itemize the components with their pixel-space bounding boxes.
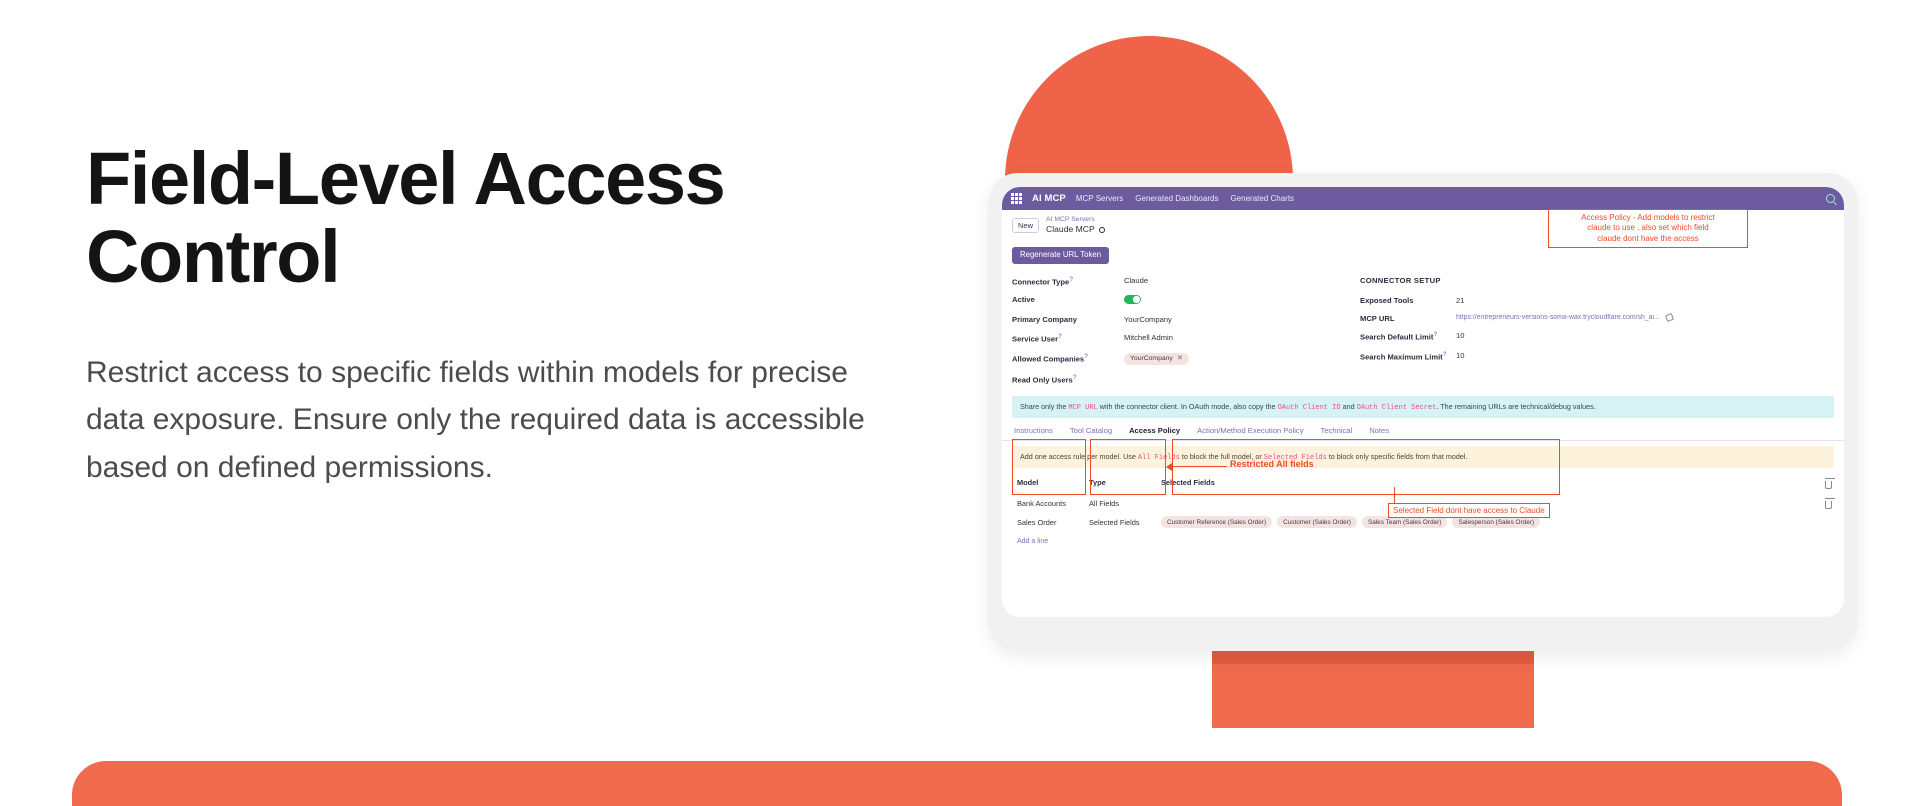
grid-apps-icon[interactable]: [1011, 193, 1022, 204]
slide-canvas: Field-Level Access Control Restrict acce…: [0, 0, 1920, 806]
table-column-model: Model Bank Accounts Sales Order: [1012, 475, 1084, 533]
regenerate-url-token-button[interactable]: Regenerate URL Token: [1012, 247, 1109, 264]
tab-action-method-execution-policy[interactable]: Action/Method Execution Policy: [1197, 426, 1303, 435]
info-banner-part2: with the connector client. In OAuth mode…: [1098, 402, 1278, 411]
field-value: 21: [1456, 296, 1464, 305]
tab-instructions[interactable]: Instructions: [1014, 426, 1053, 435]
page-body-text: Restrict access to specific fields withi…: [86, 349, 906, 491]
info-banner-part1: Share only the: [1020, 402, 1068, 411]
field-value[interactable]: 10: [1456, 351, 1464, 360]
table-row[interactable]: Bank Accounts: [1012, 494, 1084, 513]
field-label: Exposed Tools: [1360, 296, 1456, 305]
orange-bottom-bar: [72, 761, 1842, 806]
field-label: Connector Type?: [1012, 276, 1124, 287]
copy-icon[interactable]: [1665, 313, 1674, 322]
field-service-user: Service User? Mitchell Admin: [1012, 333, 1342, 344]
help-icon[interactable]: ?: [1433, 331, 1437, 338]
field-tag[interactable]: Customer (Sales Order): [1277, 516, 1357, 528]
column-header-model: Model: [1012, 475, 1084, 494]
field-label: Read Only Users?: [1012, 374, 1124, 385]
field-value[interactable]: YourCompany: [1124, 315, 1172, 324]
monitor-frame: AI MCP MCP Servers Generated Dashboards …: [988, 173, 1858, 651]
form-sheet: Connector Type? Claude Active Primary Co…: [1002, 264, 1844, 394]
field-label: Active: [1012, 295, 1124, 304]
active-toggle[interactable]: [1124, 295, 1141, 304]
tab-bar: Instructions Tool Catalog Access Policy …: [1002, 418, 1844, 441]
trash-icon[interactable]: [1825, 481, 1832, 489]
app-top-bar: AI MCP MCP Servers Generated Dashboards …: [1002, 187, 1844, 210]
app-brand[interactable]: AI MCP: [1032, 193, 1066, 204]
connector-setup-section: CONNECTOR SETUP Exposed Tools 21 MCP URL…: [1356, 276, 1834, 394]
tab-tool-catalog[interactable]: Tool Catalog: [1070, 426, 1112, 435]
new-button[interactable]: New: [1012, 218, 1039, 233]
field-value: YourCompany ✕: [1124, 353, 1189, 366]
field-value[interactable]: Claude: [1124, 276, 1148, 285]
field-read-only-users: Read Only Users?: [1012, 374, 1342, 385]
table-row[interactable]: All Fields: [1084, 494, 1156, 513]
field-exposed-tools: Exposed Tools 21: [1360, 296, 1834, 305]
close-icon[interactable]: ✕: [1177, 355, 1183, 364]
field-label: Allowed Companies?: [1012, 353, 1124, 364]
field-value[interactable]: https://entrepreneurs-versions-soma-wax.…: [1456, 314, 1660, 321]
field-tag[interactable]: Customer Reference (Sales Order): [1161, 516, 1272, 528]
connector-setup-title: CONNECTOR SETUP: [1360, 276, 1834, 285]
trash-icon[interactable]: [1825, 501, 1832, 509]
help-icon[interactable]: ?: [1073, 374, 1077, 381]
company-chip-label: YourCompany: [1130, 355, 1173, 363]
field-active: Active: [1012, 295, 1342, 306]
column-header-selected-fields: Selected Fields: [1156, 475, 1834, 494]
breadcrumb-trail: AI MCP Servers Claude MCP: [1046, 216, 1105, 235]
warning-banner: Add one access rule per model. Use All F…: [1012, 446, 1834, 468]
page-title: Field-Level Access Control: [86, 140, 776, 297]
field-search-default-limit: Search Default Limit? 10: [1360, 331, 1834, 342]
breadcrumb-current-label: Claude MCP: [1046, 224, 1095, 235]
field-label: Primary Company: [1012, 315, 1124, 324]
app-menu: MCP Servers Generated Dashboards Generat…: [1076, 194, 1294, 203]
annotation-arrow-all-fields: [1167, 466, 1227, 467]
gear-icon[interactable]: [1099, 227, 1105, 233]
field-connector-type: Connector Type? Claude: [1012, 276, 1342, 287]
tab-technical[interactable]: Technical: [1321, 426, 1353, 435]
field-tag[interactable]: Sales Team (Sales Order): [1362, 516, 1447, 528]
info-banner-code-client-secret: OAuth Client Secret: [1357, 404, 1437, 412]
search-icon[interactable]: [1826, 194, 1835, 203]
menu-item-generated-dashboards[interactable]: Generated Dashboards: [1135, 194, 1218, 203]
annotation-selected-field-note: Selected Field dont have access to Claud…: [1388, 503, 1550, 518]
add-a-line-link[interactable]: Add a line: [1012, 533, 1834, 545]
field-allowed-companies: Allowed Companies? YourCompany ✕: [1012, 353, 1342, 366]
help-icon[interactable]: ?: [1443, 351, 1447, 358]
field-label: Search Maximum Limit?: [1360, 351, 1456, 362]
tab-notes[interactable]: Notes: [1369, 426, 1389, 435]
mcp-url-row: https://entrepreneurs-versions-soma-wax.…: [1456, 314, 1834, 321]
copy-block: Field-Level Access Control Restrict acce…: [86, 140, 926, 491]
warn-banner-part3: to block only specific fields from that …: [1327, 452, 1468, 461]
help-icon[interactable]: ?: [1058, 333, 1062, 340]
screen-content: AI MCP MCP Servers Generated Dashboards …: [1002, 187, 1844, 617]
monitor-stand-base: [1212, 664, 1534, 728]
field-search-maximum-limit: Search Maximum Limit? 10: [1360, 351, 1834, 362]
breadcrumb-parent[interactable]: AI MCP Servers: [1046, 216, 1105, 224]
menu-item-generated-charts[interactable]: Generated Charts: [1230, 194, 1294, 203]
form-left-column: Connector Type? Claude Active Primary Co…: [1012, 276, 1342, 394]
tab-access-policy[interactable]: Access Policy: [1129, 426, 1180, 435]
annotation-restricted-all-fields: Restricted All fields: [1230, 459, 1314, 469]
field-value[interactable]: 10: [1456, 331, 1464, 340]
table-column-type: Type All Fields Selected Fields: [1084, 475, 1156, 533]
table-row[interactable]: Sales Order: [1012, 513, 1084, 532]
annotation-access-policy: Access Policy - Add models to restrict c…: [1548, 209, 1748, 248]
field-tag[interactable]: Salesperson (Sales Order): [1452, 516, 1540, 528]
info-banner-code-mcp-url: MCP URL: [1068, 404, 1097, 412]
info-banner-part4: . The remaining URLs are technical/debug…: [1436, 402, 1595, 411]
table-row[interactable]: Selected Fields: [1084, 513, 1156, 532]
field-label: MCP URL: [1360, 314, 1456, 323]
help-icon[interactable]: ?: [1084, 353, 1088, 360]
breadcrumb-current: Claude MCP: [1046, 224, 1105, 235]
info-banner-part3: and: [1341, 402, 1357, 411]
field-label: Service User?: [1012, 333, 1124, 344]
field-mcp-url: MCP URL https://entrepreneurs-versions-s…: [1360, 314, 1834, 323]
orange-arch-decoration: [1005, 36, 1293, 180]
info-banner: Share only the MCP URL with the connecto…: [1012, 396, 1834, 418]
help-icon[interactable]: ?: [1069, 276, 1073, 283]
field-primary-company: Primary Company YourCompany: [1012, 315, 1342, 324]
info-banner-code-client-id: OAuth Client ID: [1278, 404, 1341, 412]
warn-banner-part1: Add one access rule per model. Use: [1020, 452, 1138, 461]
app-bar-right: [1826, 194, 1835, 203]
field-value: [1124, 295, 1141, 306]
column-header-type: Type: [1084, 475, 1156, 494]
field-label: Search Default Limit?: [1360, 331, 1456, 342]
warn-banner-code-all-fields: All Fields: [1138, 454, 1180, 462]
company-chip[interactable]: YourCompany ✕: [1124, 353, 1189, 366]
menu-item-mcp-servers[interactable]: MCP Servers: [1076, 194, 1123, 203]
field-value[interactable]: Mitchell Admin: [1124, 333, 1173, 342]
